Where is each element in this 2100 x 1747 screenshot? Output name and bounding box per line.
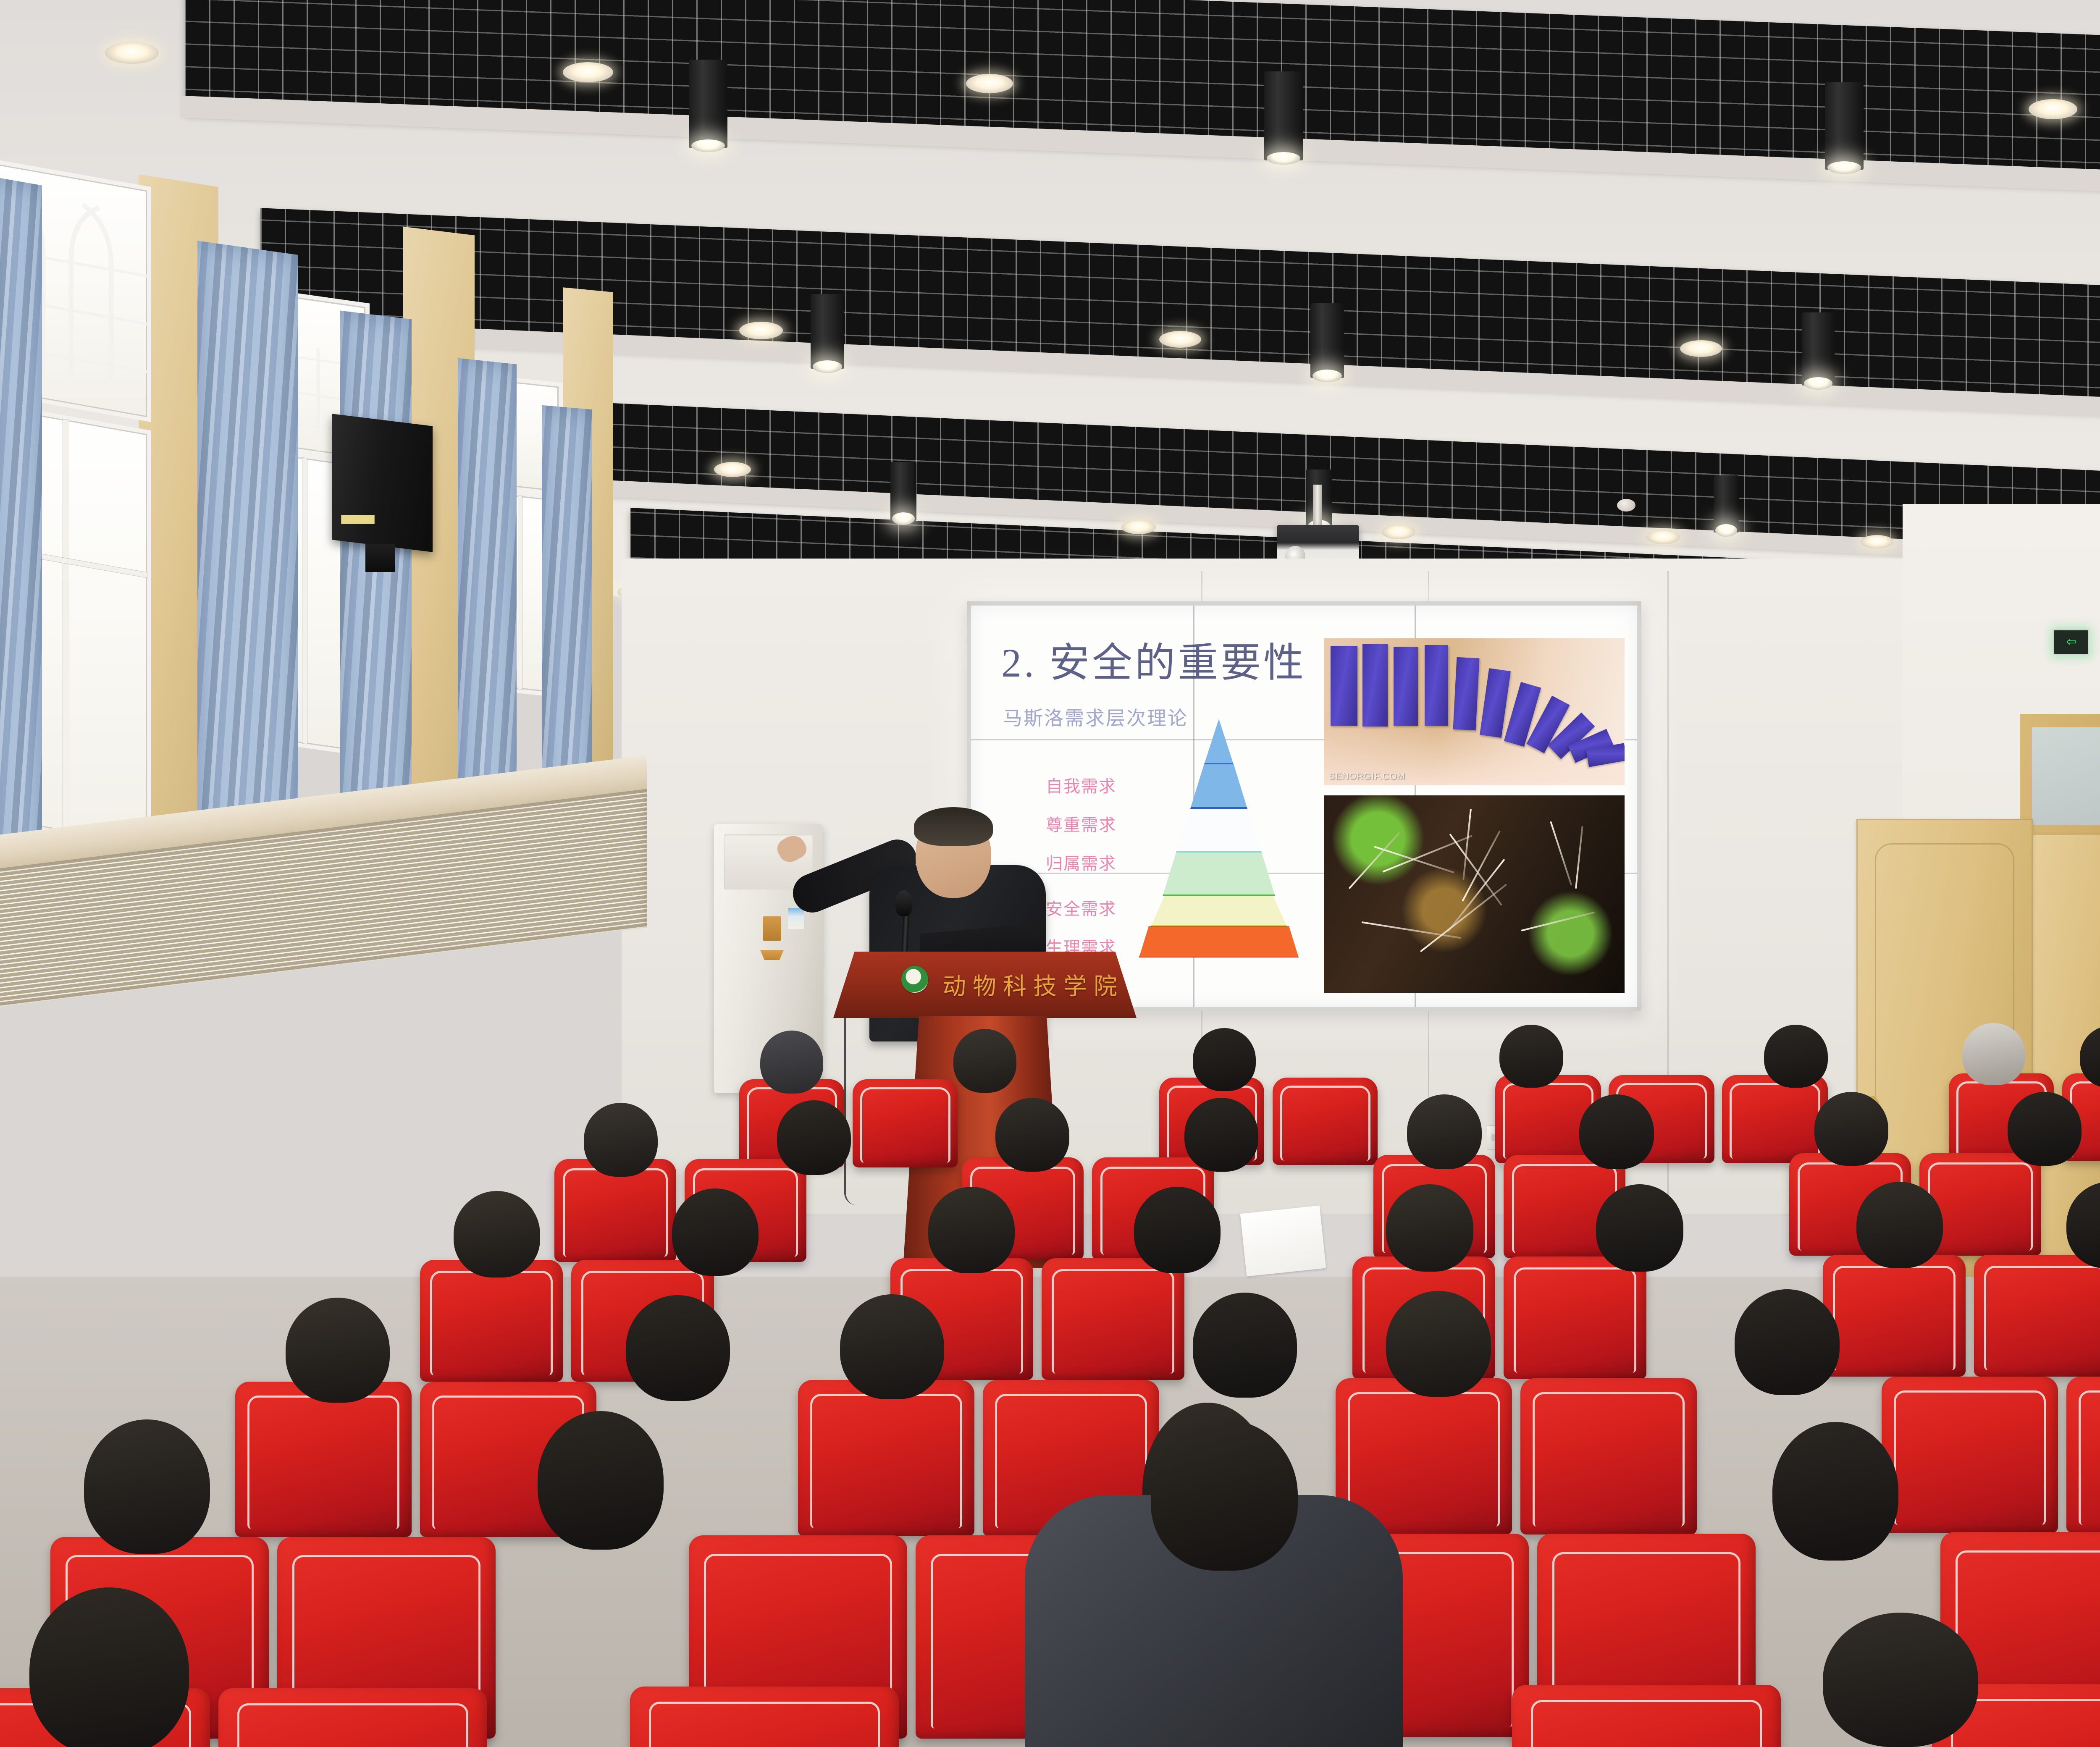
pendant-spotlight xyxy=(1802,312,1835,386)
need-label-esteem: 尊重需求 xyxy=(1046,811,1116,836)
recessed-downlight xyxy=(1680,340,1722,357)
pyramid-tier-5 xyxy=(1151,896,1287,926)
audience-head xyxy=(1386,1184,1473,1272)
audience-head xyxy=(1579,1094,1654,1169)
audience-head xyxy=(1407,1094,1482,1169)
podium-emblem-icon xyxy=(901,966,928,993)
audience-head xyxy=(1193,1293,1297,1398)
seat[interactable] xyxy=(1823,1255,1966,1377)
pendant-spotlight xyxy=(1825,82,1864,170)
seat[interactable] xyxy=(630,1687,899,1747)
audience-head xyxy=(1386,1291,1491,1397)
window-curtain[interactable] xyxy=(542,405,592,804)
audience-head xyxy=(995,1098,1069,1172)
pyramid-tier-4 xyxy=(1163,853,1275,896)
audience-head xyxy=(1814,1092,1888,1166)
need-label-self: 自我需求 xyxy=(1046,773,1116,797)
recessed-downlight xyxy=(966,74,1013,93)
exit-arrow-icon: ⇦ xyxy=(2066,636,2076,648)
pendant-spotlight xyxy=(689,60,727,148)
pyramid-tier-3 xyxy=(1176,809,1262,853)
audience-head xyxy=(953,1029,1016,1093)
recessed-downlight xyxy=(2029,99,2077,119)
seat[interactable] xyxy=(798,1380,974,1536)
audience-head xyxy=(538,1411,664,1550)
audience-head xyxy=(760,1031,823,1094)
seat[interactable] xyxy=(1273,1078,1378,1165)
seat[interactable] xyxy=(2066,1377,2100,1533)
audience-head xyxy=(1193,1028,1256,1091)
audience-head xyxy=(1764,1025,1828,1088)
pendant-spotlight xyxy=(811,294,844,369)
window-curtain[interactable] xyxy=(197,241,298,885)
audience-head xyxy=(1772,1422,1898,1561)
podium-sign-text: 动物科技学院 xyxy=(942,968,1124,1002)
recessed-downlight xyxy=(1646,530,1680,544)
audience-head xyxy=(584,1103,658,1177)
recessed-downlight xyxy=(1121,520,1156,534)
pendant-spotlight xyxy=(1310,303,1344,378)
audience-head xyxy=(454,1191,540,1277)
pendant-spotlight xyxy=(1714,475,1739,532)
presentation-screen[interactable]: 2. 安全的重要性 马斯洛需求层次理论 自我需求 尊重需求 归属需求 安全需求 … xyxy=(971,606,1637,1007)
recessed-downlight xyxy=(563,62,613,82)
audience-head xyxy=(777,1100,851,1175)
speaker-badge xyxy=(341,515,375,524)
seat[interactable] xyxy=(420,1260,563,1382)
window-curtain[interactable] xyxy=(458,358,517,835)
photo-watermark: SENORGIF.COM xyxy=(1329,771,1405,782)
presenter-hair xyxy=(914,807,993,846)
domino-photo: SENORGIF.COM xyxy=(1324,638,1625,785)
audience-head xyxy=(286,1298,390,1403)
foreground-attendee-head xyxy=(1151,1419,1298,1571)
seat[interactable] xyxy=(1722,1075,1828,1163)
pyramid-tier-1 xyxy=(1204,719,1234,764)
audience-head xyxy=(1856,1182,1943,1268)
recessed-downlight xyxy=(739,322,783,339)
audience-head xyxy=(672,1188,759,1276)
seat[interactable] xyxy=(1974,1255,2100,1377)
audience-head xyxy=(928,1187,1015,1273)
audience-head xyxy=(1962,1023,2025,1085)
recessed-downlight xyxy=(1861,535,1893,548)
left-window-wall xyxy=(0,181,638,1256)
audience-head xyxy=(2008,1092,2082,1166)
seat[interactable] xyxy=(218,1688,487,1747)
wall-speaker-left xyxy=(332,414,433,552)
audience-head xyxy=(1184,1098,1258,1172)
recessed-downlight xyxy=(105,42,159,64)
lecture-hall-photo: 2. 安全的重要性 马斯洛需求层次理论 自我需求 尊重需求 归属需求 安全需求 … xyxy=(0,0,2100,1747)
audience-handout[interactable] xyxy=(1240,1205,1326,1276)
audience-head xyxy=(1735,1289,1840,1395)
pendant-spotlight xyxy=(890,462,916,521)
ac-logo-badge xyxy=(760,950,784,960)
audience-head xyxy=(84,1419,210,1554)
door-transom-glass xyxy=(2032,727,2100,825)
window-curtain[interactable] xyxy=(340,311,412,861)
slide-title: 2. 安全的重要性 xyxy=(1001,630,1306,688)
microphone-head-icon xyxy=(895,890,912,916)
seat[interactable] xyxy=(1512,1685,1781,1747)
audience-head xyxy=(1134,1187,1221,1273)
seat[interactable] xyxy=(1504,1256,1646,1379)
thorn-photo xyxy=(1324,795,1625,993)
smoke-detector-icon xyxy=(1617,499,1635,512)
audience-head xyxy=(1596,1184,1683,1272)
ac-energy-sticker xyxy=(788,908,804,929)
window-curtain[interactable] xyxy=(0,176,42,900)
emergency-exit-sign: ⇦ xyxy=(2053,629,2089,655)
audience-head xyxy=(840,1294,944,1399)
need-label-safety: 安全需求 xyxy=(1046,895,1116,920)
recessed-downlight xyxy=(1382,525,1415,539)
speaker-bracket xyxy=(365,544,395,572)
recessed-downlight xyxy=(714,462,751,477)
ac-display-panel xyxy=(763,916,781,941)
seat[interactable] xyxy=(1042,1258,1184,1380)
seat[interactable] xyxy=(853,1079,958,1167)
maslow-pyramid-chart xyxy=(1152,719,1286,954)
need-label-belonging: 归属需求 xyxy=(1046,850,1116,874)
audience-head xyxy=(1499,1025,1563,1088)
seat[interactable] xyxy=(1520,1378,1697,1535)
audience-head xyxy=(29,1587,189,1747)
audience-head xyxy=(1823,1613,1978,1747)
audience-head xyxy=(626,1295,730,1401)
pyramid-tier-2 xyxy=(1190,764,1247,809)
pendant-spotlight xyxy=(1264,71,1303,160)
seat[interactable] xyxy=(235,1382,412,1537)
recessed-downlight xyxy=(1159,331,1201,348)
pyramid-tier-base xyxy=(1139,926,1299,957)
seat[interactable] xyxy=(1882,1377,2058,1533)
